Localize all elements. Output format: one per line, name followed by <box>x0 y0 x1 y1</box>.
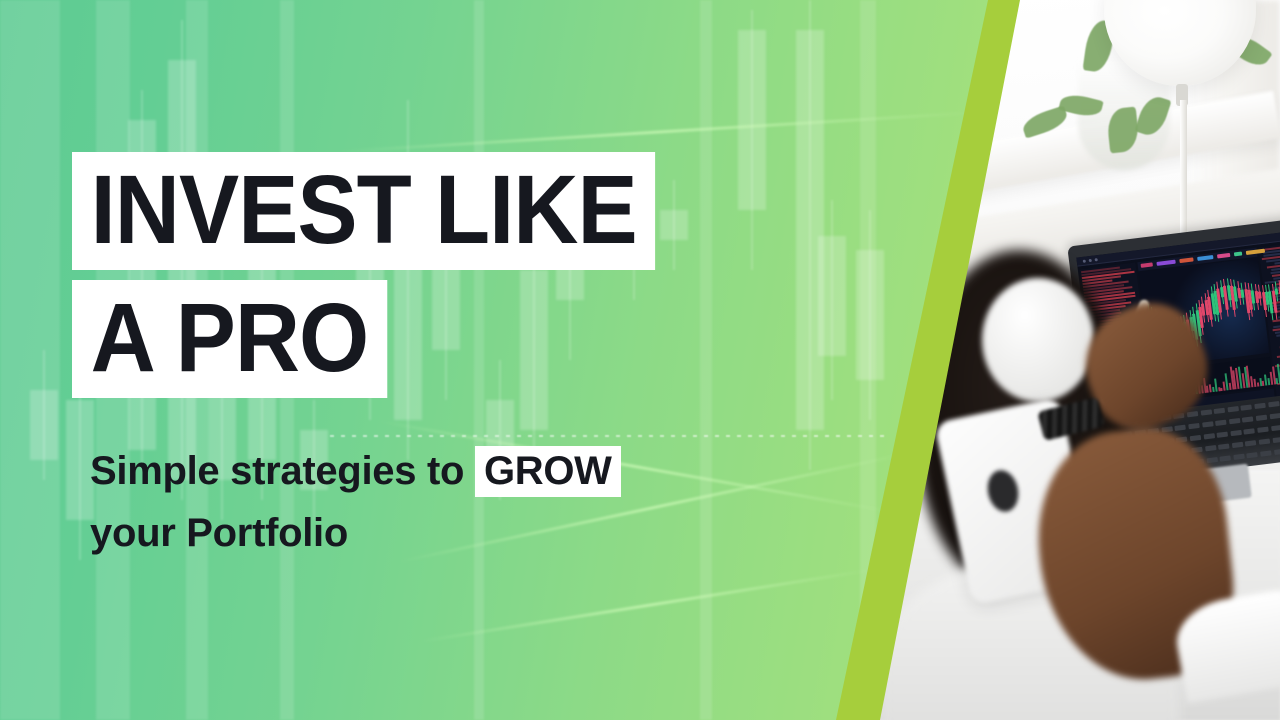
keyboard-key <box>1187 411 1199 417</box>
art-candle-body <box>818 236 846 356</box>
keyboard-key <box>1242 416 1254 422</box>
toolbar-pill <box>1217 253 1230 258</box>
art-dotted-level <box>330 435 890 437</box>
keyboard-key <box>1259 438 1271 444</box>
art-trend-line <box>340 111 979 153</box>
keyboard-key <box>1241 404 1253 410</box>
keyboard-key <box>1202 421 1214 427</box>
page-subtitle: Simple strategies to GROW your Portfolio <box>90 440 621 564</box>
keyboard-key <box>1214 408 1226 414</box>
keyboard-key <box>1247 452 1259 458</box>
keyboard-key <box>1215 420 1227 426</box>
keyboard-key <box>1272 437 1280 443</box>
keyboard-key <box>1205 445 1217 451</box>
keyboard-key <box>1256 415 1268 421</box>
keyboard-key <box>1188 423 1200 429</box>
keyboard-key <box>1269 413 1280 419</box>
keyboard-key <box>1233 454 1245 460</box>
keyboard-key <box>1218 443 1230 449</box>
keyboard-key <box>1268 401 1280 407</box>
art-trend-line <box>420 568 875 643</box>
subtitle-highlight-grow: GROW <box>475 446 621 497</box>
keyboard-key <box>1271 425 1280 431</box>
keyboard-key <box>1227 406 1239 412</box>
keyboard-key <box>1200 409 1212 415</box>
art-candle-body <box>856 250 884 380</box>
keyboard-key <box>1217 432 1229 438</box>
subtitle-line-1: Simple strategies to GROW <box>90 440 621 502</box>
art-column <box>700 0 712 720</box>
art-candle-body <box>796 30 824 430</box>
toolbar-pill <box>1141 262 1154 267</box>
keyboard-key <box>1220 455 1232 461</box>
keyboard-key <box>1254 403 1266 409</box>
art-column <box>0 0 60 720</box>
screen-volume-bar <box>1214 378 1218 391</box>
toolbar-pill <box>1179 257 1193 263</box>
art-candle-body <box>738 30 766 210</box>
keyboard-key <box>1232 442 1244 448</box>
toolbar-pill <box>1157 260 1176 266</box>
subtitle-line-2: your Portfolio <box>90 502 621 564</box>
keyboard-key <box>1203 433 1215 439</box>
coffee-mug <box>982 278 1094 402</box>
keyboard-key <box>1229 418 1241 424</box>
poster-canvas: INVEST LIKE A PRO Simple strategies to G… <box>0 0 1280 720</box>
keyboard-key <box>1175 425 1187 431</box>
keyboard-key <box>1245 440 1257 446</box>
headline-line-2: A PRO <box>72 280 387 398</box>
art-candle-body <box>30 390 58 460</box>
subtitle-prefix: Simple strategies to <box>90 449 475 493</box>
keyboard-key <box>1206 457 1218 463</box>
toolbar-pill <box>1197 255 1214 261</box>
keyboard-key <box>1257 427 1269 433</box>
page-title: INVEST LIKE A PRO <box>72 152 699 398</box>
keyboard-key <box>1244 428 1256 434</box>
keyboard-key <box>1274 449 1280 455</box>
keyboard-key <box>1190 435 1202 441</box>
keyboard-key <box>1230 430 1242 436</box>
keyboard-key <box>1260 450 1272 456</box>
headline-line-1: INVEST LIKE <box>72 152 655 270</box>
toolbar-pill <box>1233 251 1242 256</box>
desk-lamp-pole <box>1180 100 1187 246</box>
